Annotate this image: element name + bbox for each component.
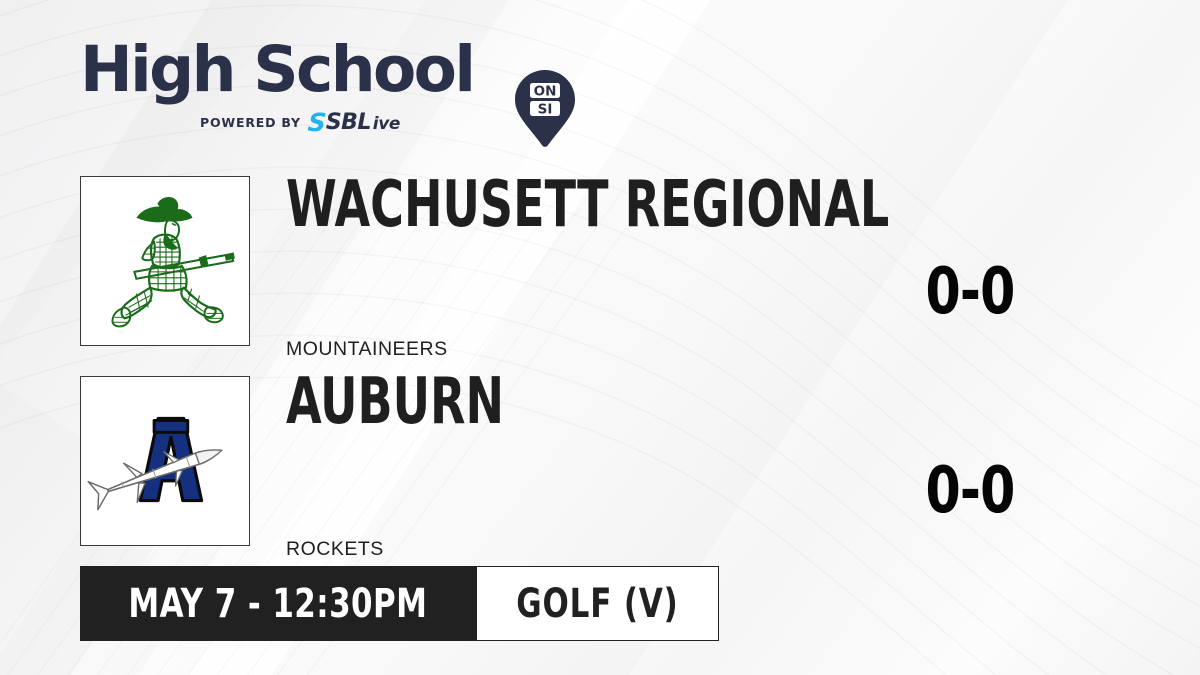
game-datetime-label: MAY 7 - 12:30PM [128,584,427,624]
game-info-bar: MAY 7 - 12:30PM GOLF (V) [80,566,719,641]
sblive-logo: S SBL ive [308,110,400,135]
powered-by-row: POWERED BY S SBL ive [200,110,400,135]
sblive-s-mark: S [307,110,326,135]
game-datetime-chip: MAY 7 - 12:30PM [80,566,476,641]
team-mascot-away: ROCKETS [286,538,384,561]
team-name-away: AUBURN [286,375,504,430]
mountaineer-logo [81,177,249,345]
powered-by-label: POWERED BY [200,115,301,130]
scoreboard-graphic: High School ON SI POWERED BY S SBL ive [0,0,1200,675]
game-sport-label: GOLF (V) [516,584,678,624]
team-score-away: 0-0 [882,459,1058,523]
sblive-wordmark-tail: ive [373,116,400,133]
team-logo-box-away [80,376,250,546]
team-mascot-home: MOUNTAINEERS [286,338,448,361]
page-title: High School [80,38,473,101]
pin-label-si: SI [538,101,553,117]
header-branding: High School ON SI POWERED BY S SBL ive [80,34,510,139]
team-name-home: WACHUSETT REGIONAL [286,178,889,233]
sblive-wordmark: SBL [326,112,371,134]
team-logo-box-home [80,176,250,346]
pin-label-on: ON [534,83,557,99]
team-score-home: 0-0 [882,260,1058,324]
game-sport-chip: GOLF (V) [476,566,719,641]
on-si-pin-icon: ON SI [514,70,576,148]
auburn-rocket-a-logo [81,377,249,545]
